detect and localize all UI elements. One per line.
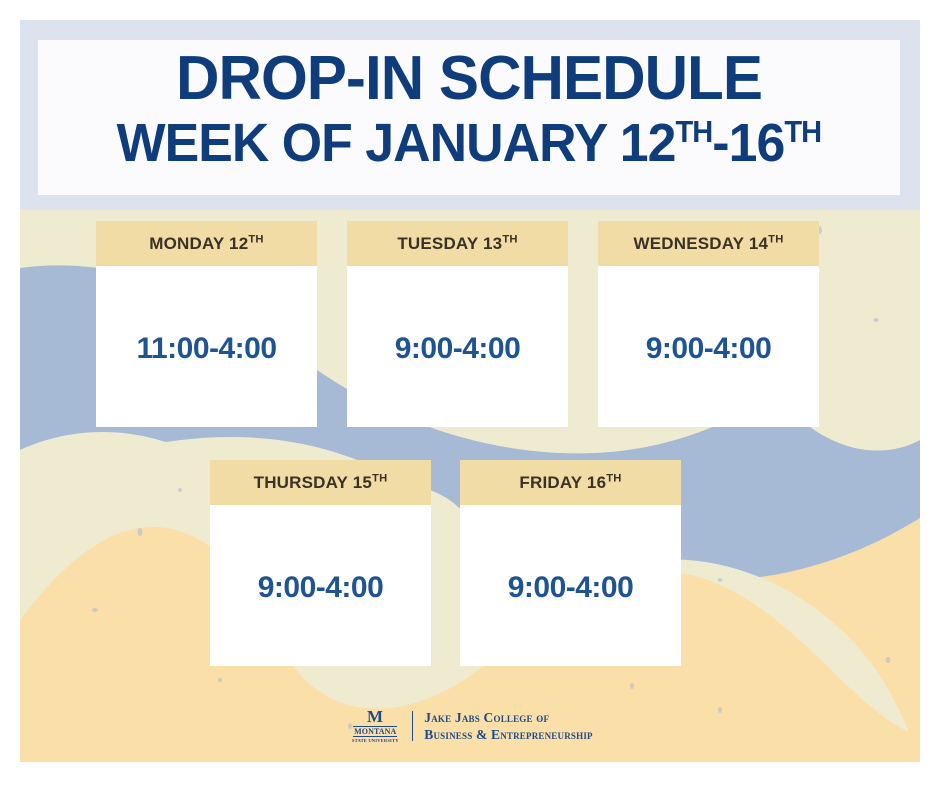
day-body-monday: 11:00-4:00: [96, 266, 317, 427]
day-ordinal-wednesday: TH: [768, 233, 783, 245]
day-name-friday: FRIDAY 16: [519, 473, 606, 492]
day-name-tuesday: TUESDAY 13: [397, 234, 502, 253]
day-header-friday: FRIDAY 16TH: [460, 460, 681, 505]
day-body-tuesday: 9:00-4:00: [347, 266, 568, 427]
day-ordinal-monday: TH: [248, 233, 263, 245]
day-label-friday: FRIDAY 16TH: [519, 473, 621, 493]
day-label-wednesday: WEDNESDAY 14TH: [633, 234, 783, 254]
logo-divider: [412, 711, 413, 741]
day-hours-thursday: 9:00-4:00: [258, 571, 384, 605]
day-header-monday: MONDAY 12TH: [96, 221, 317, 266]
day-card-wednesday: WEDNESDAY 14TH 9:00-4:00: [598, 221, 819, 427]
day-name-wednesday: WEDNESDAY 14: [633, 234, 768, 253]
day-name-thursday: THURSDAY 15: [254, 473, 372, 492]
day-body-wednesday: 9:00-4:00: [598, 266, 819, 427]
day-ordinal-thursday: TH: [372, 472, 387, 484]
day-name-monday: MONDAY 12: [149, 234, 248, 253]
day-label-tuesday: TUESDAY 13TH: [397, 234, 517, 254]
day-card-monday: MONDAY 12TH 11:00-4:00: [96, 221, 317, 427]
day-label-thursday: THURSDAY 15TH: [254, 473, 388, 493]
day-hours-tuesday: 9:00-4:00: [395, 332, 521, 366]
poster-canvas: DROP-IN SCHEDULE WEEK OF JANUARY 12TH-16…: [20, 20, 920, 762]
msu-state-university-word: STATE UNIVERSITY: [352, 738, 399, 744]
day-label-monday: MONDAY 12TH: [149, 234, 263, 254]
msu-montana-word: MONTANA: [353, 726, 397, 737]
page-title: DROP-IN SCHEDULE: [176, 48, 762, 110]
msu-m-letter: M: [367, 708, 384, 725]
page-subtitle: WEEK OF JANUARY 12TH-16TH: [117, 116, 821, 170]
day-body-friday: 9:00-4:00: [460, 505, 681, 666]
college-name-line-2: Business & Entrepreneurship: [424, 726, 592, 743]
college-name-line-1: Jake Jabs College of: [424, 709, 592, 726]
day-header-thursday: THURSDAY 15TH: [210, 460, 431, 505]
day-card-thursday: THURSDAY 15TH 9:00-4:00: [210, 460, 431, 666]
title-card: DROP-IN SCHEDULE WEEK OF JANUARY 12TH-16…: [38, 40, 900, 195]
page-subtitle-prefix: WEEK OF JANUARY 12: [117, 113, 676, 173]
day-card-friday: FRIDAY 16TH 9:00-4:00: [460, 460, 681, 666]
day-header-wednesday: WEDNESDAY 14TH: [598, 221, 819, 266]
day-body-thursday: 9:00-4:00: [210, 505, 431, 666]
footer: M MONTANA STATE UNIVERSITY Jake Jabs Col…: [20, 698, 920, 754]
day-ordinal-friday: TH: [606, 472, 621, 484]
day-hours-wednesday: 9:00-4:00: [646, 332, 772, 366]
day-hours-monday: 11:00-4:00: [136, 332, 276, 366]
day-header-tuesday: TUESDAY 13TH: [347, 221, 568, 266]
college-name: Jake Jabs College of Business & Entrepre…: [422, 709, 592, 744]
page-subtitle-ordinal-2: TH: [784, 116, 821, 149]
page-subtitle-separator: -16: [712, 113, 784, 173]
day-ordinal-tuesday: TH: [502, 233, 517, 245]
montana-state-logo-icon: M MONTANA STATE UNIVERSITY: [347, 708, 403, 744]
day-hours-friday: 9:00-4:00: [508, 571, 634, 605]
msu-logo-lockup: M MONTANA STATE UNIVERSITY Jake Jabs Col…: [347, 708, 592, 744]
day-card-tuesday: TUESDAY 13TH 9:00-4:00: [347, 221, 568, 427]
page-subtitle-ordinal-1: TH: [676, 116, 713, 149]
